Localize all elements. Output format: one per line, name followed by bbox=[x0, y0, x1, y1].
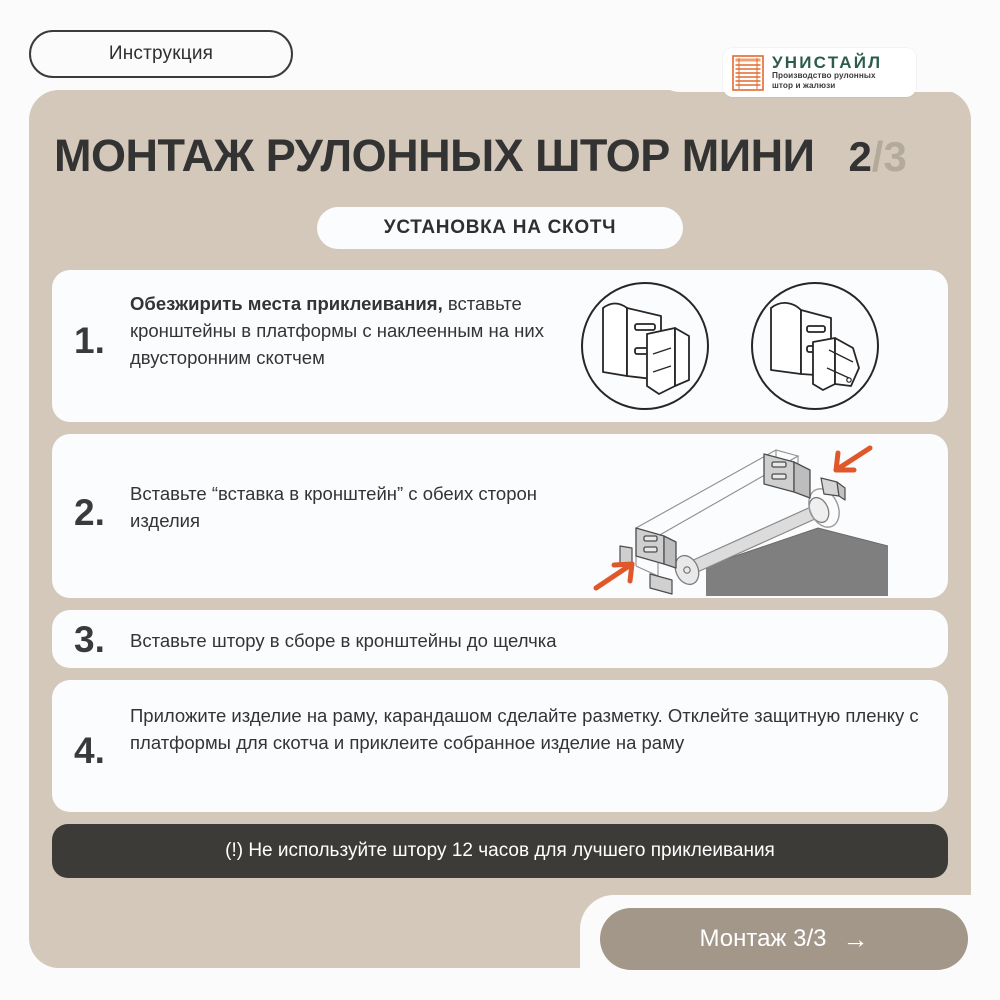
instruction-tab-label: Инструкция bbox=[109, 43, 213, 65]
page-number-total: /3 bbox=[872, 133, 907, 181]
page-title: МОНТАЖ РУЛОННЫХ ШТОР МИНИ 2 /3 bbox=[54, 130, 954, 188]
step-text-3: Вставьте штору в сборе в кронштейны до щ… bbox=[130, 627, 932, 654]
next-page-button[interactable]: Монтаж 3/3 → bbox=[600, 908, 968, 970]
infographic-root: Инструкция УНИСТАЙЛ bbox=[0, 0, 1000, 1000]
step-card-3: 3. Вставьте штору в сборе в кронштейны д… bbox=[52, 610, 948, 668]
roller-blind-icon bbox=[731, 54, 765, 92]
warning-text: (!) Не используйте штору 12 часов для лу… bbox=[225, 840, 775, 862]
step-text-1: Обезжирить места приклеивания, вставьте … bbox=[130, 290, 598, 371]
step-text-1-bold: Обезжирить места приклеивания, bbox=[130, 293, 443, 314]
section-subtitle-label: УСТАНОВКА НА СКОТЧ bbox=[384, 217, 616, 239]
brand-name: УНИСТАЙЛ bbox=[772, 54, 882, 72]
step-text-4: Приложите изделие на раму, карандашом сд… bbox=[130, 702, 932, 756]
brand-subtitle-line2: штор и жалюзи bbox=[772, 81, 882, 91]
page-number-current: 2 bbox=[848, 133, 871, 181]
step-number-1: 1. bbox=[74, 322, 105, 359]
warning-bar: (!) Не используйте штору 12 часов для лу… bbox=[52, 824, 948, 878]
step-text-2: Вставьте “вставка в кронштейн” с обеих с… bbox=[130, 480, 588, 534]
instruction-tab[interactable]: Инструкция bbox=[29, 30, 293, 78]
step-card-4: 4. Приложите изделие на раму, карандашом… bbox=[52, 680, 948, 812]
brand-logo: УНИСТАЙЛ Производство рулонных штор и жа… bbox=[723, 48, 916, 97]
step-number-2: 2. bbox=[74, 494, 105, 531]
step-card-1: 1. Обезжирить места приклеивания, вставь… bbox=[52, 270, 948, 422]
step-number-3: 3. bbox=[74, 621, 105, 658]
step-card-2: 2. Вставьте “вставка в кронштейн” с обеи… bbox=[52, 434, 948, 598]
roller-blind-insert-illustration bbox=[588, 436, 948, 596]
section-subtitle-pill: УСТАНОВКА НА СКОТЧ bbox=[317, 207, 683, 249]
bracket-platform-tape-illustration bbox=[540, 278, 940, 414]
step-number-4: 4. bbox=[74, 732, 105, 769]
brand-subtitle-line1: Производство рулонных bbox=[772, 71, 882, 81]
arrow-right-icon: → bbox=[843, 926, 869, 952]
next-page-label: Монтаж 3/3 bbox=[699, 925, 826, 953]
page-title-text: МОНТАЖ РУЛОННЫХ ШТОР МИНИ bbox=[54, 130, 814, 182]
